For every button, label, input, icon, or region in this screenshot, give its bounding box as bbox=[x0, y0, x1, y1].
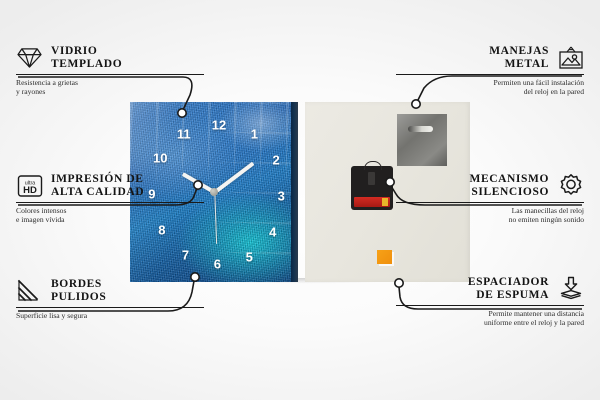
callout-header: BORDES PULIDOS bbox=[16, 277, 226, 304]
clock-numeral-10: 10 bbox=[153, 151, 167, 164]
callout-hd-print: ultra HD IMPRESIÓN DE ALTA CALIDAD Color… bbox=[16, 172, 226, 225]
callout-divider bbox=[396, 305, 584, 306]
callout-header: MANEJAS METAL bbox=[374, 44, 584, 71]
clock-numeral-2: 2 bbox=[273, 153, 280, 166]
callout-title: IMPRESIÓN DE ALTA CALIDAD bbox=[51, 173, 144, 198]
callout-header: MECANISMO SILENCIOSO bbox=[374, 172, 584, 199]
callout-subtitle: Resistencia a grietas y rayones bbox=[16, 78, 226, 97]
callout-foam-spacer: ESPACIADOR DE ESPUMA Permite mantener un… bbox=[374, 275, 584, 328]
clock-numeral-1: 1 bbox=[251, 128, 258, 141]
hanger-slot bbox=[408, 126, 433, 132]
callout-polished-edges: BORDES PULIDOS Superficie lisa y segura bbox=[16, 277, 226, 320]
clock-side-edge bbox=[291, 102, 298, 282]
diagonal-lines-icon bbox=[16, 277, 43, 304]
callout-header: VIDRIO TEMPLADO bbox=[16, 44, 226, 71]
clock-numeral-6: 6 bbox=[214, 258, 221, 271]
metal-hanger-plate bbox=[397, 114, 447, 166]
callout-header: ultra HD IMPRESIÓN DE ALTA CALIDAD bbox=[16, 172, 226, 199]
clock-numeral-7: 7 bbox=[182, 249, 189, 262]
foam-spacer-pad bbox=[377, 250, 392, 264]
clock-numeral-3: 3 bbox=[278, 189, 285, 202]
diamond-icon bbox=[16, 44, 43, 71]
mechanism-hanging-loop bbox=[364, 161, 382, 170]
callout-subtitle: Las manecillas del reloj no emiten ningú… bbox=[374, 206, 584, 225]
callout-divider bbox=[396, 202, 584, 203]
clock-numeral-12: 12 bbox=[212, 119, 226, 132]
picture-frame-icon bbox=[557, 44, 584, 71]
callout-title: BORDES PULIDOS bbox=[51, 278, 106, 303]
callout-divider bbox=[396, 74, 584, 75]
callout-silent-mechanism: MECANISMO SILENCIOSO Las manecillas del … bbox=[374, 172, 584, 225]
callout-divider bbox=[16, 307, 204, 308]
callout-metal-hangers: MANEJAS METAL Permiten una fácil instala… bbox=[374, 44, 584, 97]
callout-title: ESPACIADOR DE ESPUMA bbox=[468, 276, 549, 301]
product-infographic: 12 1 2 3 4 5 6 7 8 9 10 11 bbox=[0, 0, 600, 400]
gear-icon bbox=[557, 172, 584, 199]
clock-numeral-4: 4 bbox=[269, 225, 276, 238]
callout-divider bbox=[16, 74, 204, 75]
ultra-hd-icon: ultra HD bbox=[16, 172, 43, 199]
callout-tempered-glass: VIDRIO TEMPLADO Resistencia a grietas y … bbox=[16, 44, 226, 97]
clock-numeral-8: 8 bbox=[158, 223, 165, 236]
callout-header: ESPACIADOR DE ESPUMA bbox=[374, 275, 584, 302]
callout-subtitle: Colores intensos e imagen vívida bbox=[16, 206, 226, 225]
callout-title: VIDRIO TEMPLADO bbox=[51, 45, 122, 70]
callout-subtitle: Permiten una fácil instalación del reloj… bbox=[374, 78, 584, 97]
callout-title: MANEJAS METAL bbox=[489, 45, 549, 70]
callout-divider bbox=[16, 202, 204, 203]
clock-numeral-11: 11 bbox=[177, 128, 191, 141]
callout-subtitle: Permite mantener una distancia uniforme … bbox=[374, 309, 584, 328]
callout-subtitle: Superficie lisa y segura bbox=[16, 311, 226, 320]
svg-text:HD: HD bbox=[23, 185, 37, 196]
callout-title: MECANISMO SILENCIOSO bbox=[469, 173, 549, 198]
arrow-down-layers-icon bbox=[557, 275, 584, 302]
clock-numeral-5: 5 bbox=[246, 250, 253, 263]
